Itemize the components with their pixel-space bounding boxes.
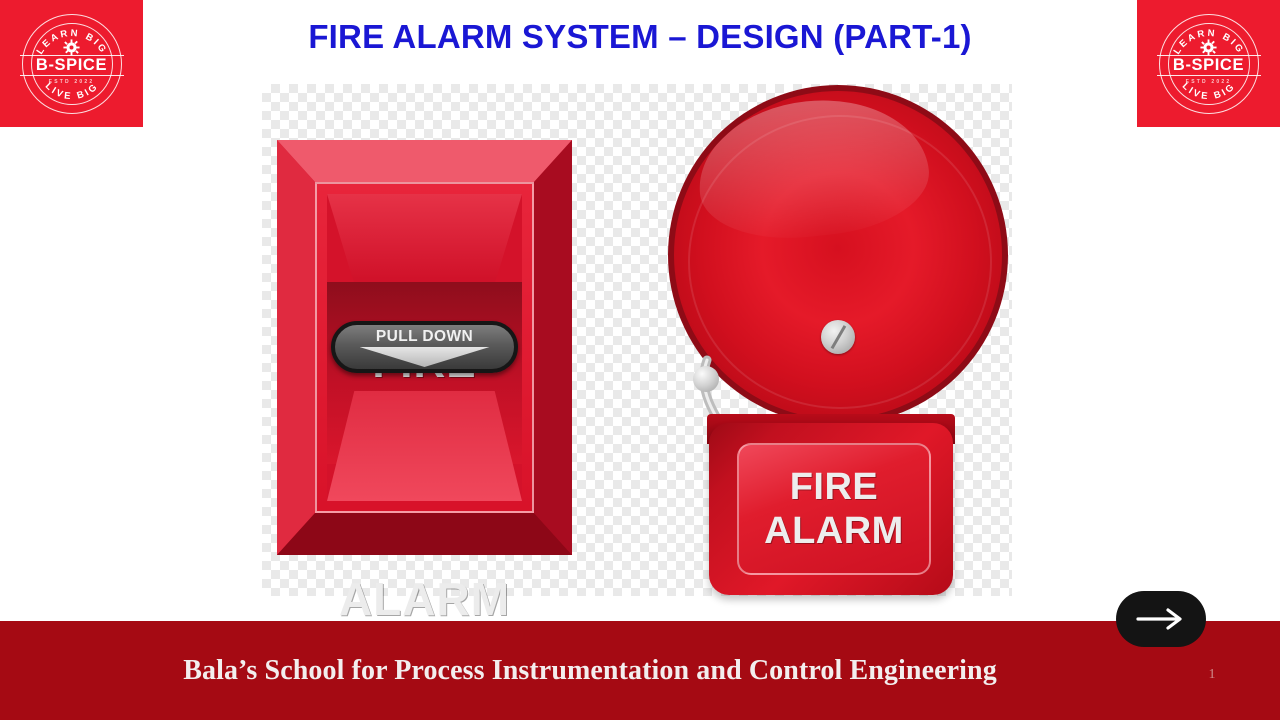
logo-block-left: LEARN BIG LIVE BIG (0, 0, 143, 127)
logo-established-text: ESTD 2022 (20, 79, 124, 85)
fire-alarm-bell-image: FIRE ALARM (663, 82, 1013, 592)
next-slide-button[interactable] (1116, 591, 1206, 647)
slide-title: FIRE ALARM SYSTEM – DESIGN (PART-1) (150, 18, 1130, 56)
down-arrow-icon (360, 347, 490, 367)
screw-slot (830, 325, 845, 349)
bspice-logo-secondary: LEARN BIG LIVE BIG (1157, 12, 1261, 116)
clapper-ball (693, 366, 719, 392)
bell-base-box: FIRE ALARM (709, 423, 953, 595)
pull-station-top-panel (327, 194, 522, 284)
logo-established-text: ESTD 2022 (1157, 79, 1261, 85)
fire-alarm-pull-station-image: FIRE ALARM PULL DOWN (277, 140, 572, 555)
bell-label-line1: FIRE (739, 465, 929, 509)
gear-icon (1200, 39, 1217, 56)
pull-down-handle[interactable]: PULL DOWN (331, 321, 518, 373)
logo-brand-name: B-SPICE (20, 56, 124, 74)
arrow-right-icon (1134, 607, 1188, 631)
pull-station-bottom-panel (327, 391, 522, 501)
logo-divider-bottom (1157, 75, 1261, 76)
logo-block-right: LEARN BIG LIVE BIG (1137, 0, 1280, 127)
pull-down-handle-label: PULL DOWN (335, 328, 514, 346)
screw-icon (821, 320, 855, 354)
page-number: 1 (1200, 667, 1224, 683)
bell-base-label: FIRE ALARM (739, 465, 929, 553)
bell-label-line2: ALARM (739, 509, 929, 553)
footer-title: Bala’s School for Process Instrumentatio… (0, 655, 1180, 687)
slide-canvas: LEARN BIG LIVE BIG (0, 0, 1280, 720)
bell-base-face: FIRE ALARM (737, 443, 931, 575)
pull-station-alarm-label: ALARM (277, 572, 572, 626)
bspice-logo: LEARN BIG LIVE BIG (20, 12, 124, 116)
logo-divider-bottom (20, 75, 124, 76)
gear-icon (63, 39, 80, 56)
logo-brand-name: B-SPICE (1157, 56, 1261, 74)
